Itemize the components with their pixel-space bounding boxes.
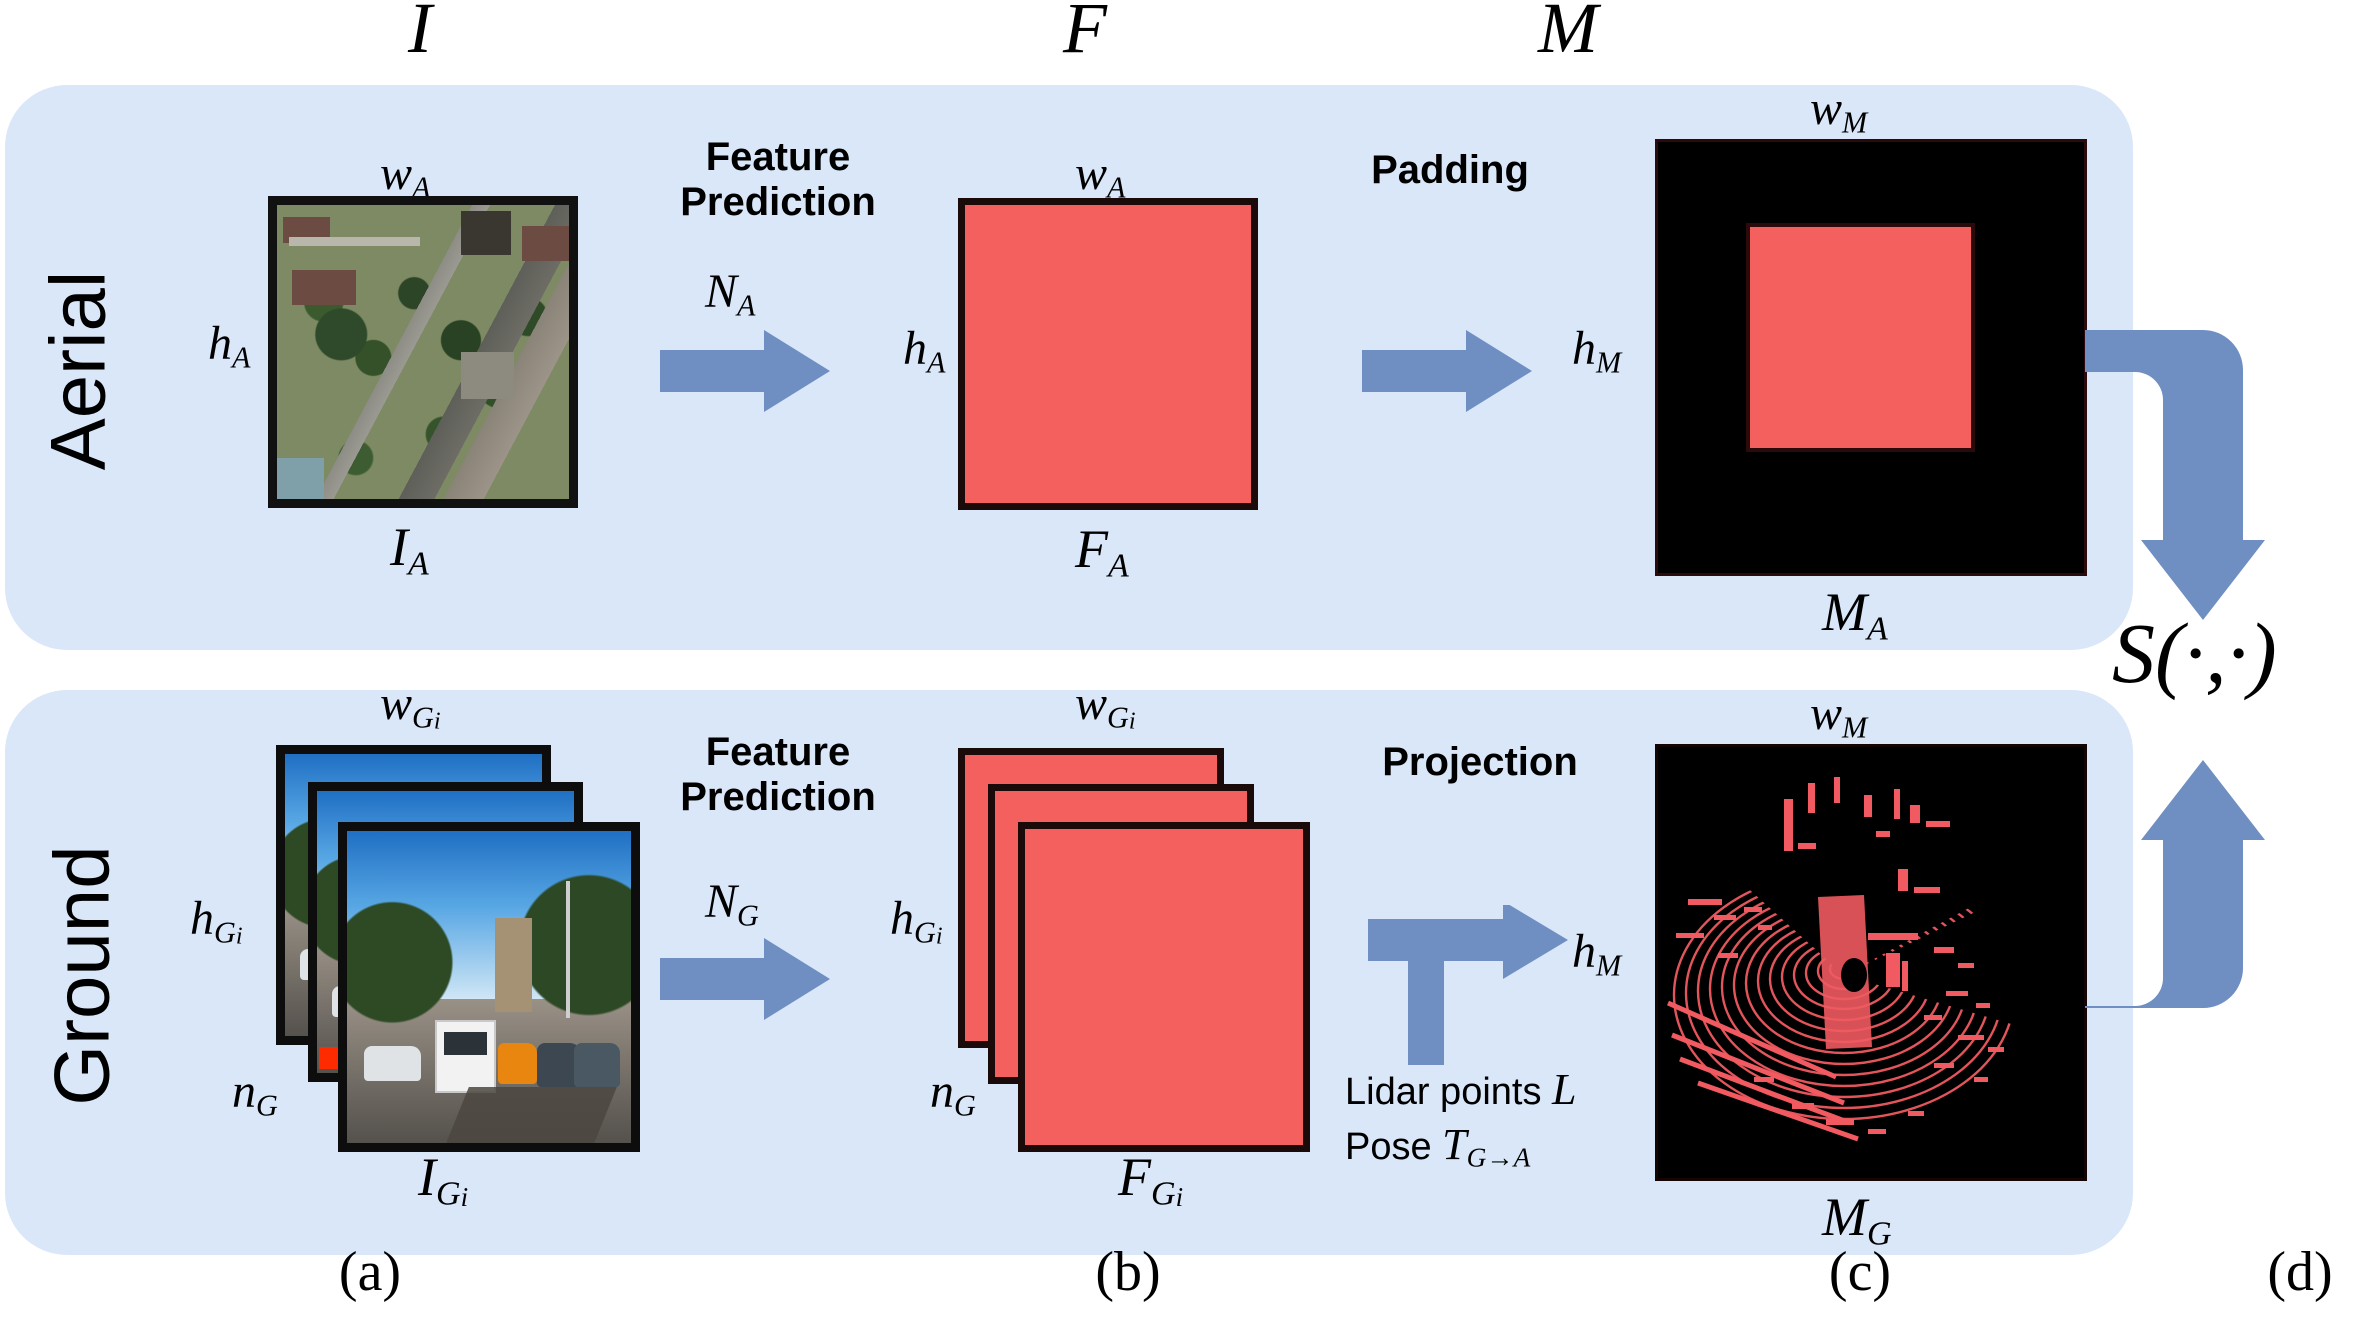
lidar-points-line: Lidar points L bbox=[1345, 1062, 1577, 1117]
aerial-padded-mask bbox=[1655, 139, 2087, 576]
aerial-padding-arrow bbox=[1362, 330, 1532, 412]
aerial-water bbox=[277, 458, 324, 499]
aerial-building bbox=[461, 352, 514, 399]
lidar-point-cloud bbox=[1658, 747, 2087, 1181]
aerial-padding-label: Padding bbox=[1325, 148, 1575, 193]
tree-right bbox=[517, 856, 640, 1018]
aerial-building bbox=[461, 211, 511, 255]
ground-projection-arrow bbox=[1368, 905, 1568, 1065]
camera-shadow bbox=[441, 1087, 616, 1152]
aerial-image-width-label: wA bbox=[380, 150, 430, 203]
row-label-aerial: Aerial bbox=[33, 241, 124, 501]
aerial-mask-width-label: wM bbox=[1810, 85, 1867, 138]
ground-to-score-arrow bbox=[2085, 760, 2265, 1050]
ground-feature-prediction-arrow bbox=[660, 938, 830, 1020]
pose-line: Pose TG→A bbox=[1345, 1117, 1577, 1175]
subfigure-caption-a: (a) bbox=[310, 1240, 430, 1304]
aerial-input-image bbox=[268, 196, 578, 508]
ground-feature-caption: FGi bbox=[1118, 1150, 1183, 1212]
ground-image-count-label: nG bbox=[232, 1068, 278, 1121]
column-header-M: M bbox=[1518, 0, 1618, 64]
white-van bbox=[435, 1020, 496, 1093]
aerial-image-height-label: hA bbox=[208, 320, 250, 373]
aerial-feature-caption: FA bbox=[1075, 522, 1129, 584]
aerial-to-score-arrow bbox=[2085, 330, 2265, 620]
parked-car bbox=[364, 1046, 421, 1080]
subfigure-caption-b: (b) bbox=[1068, 1240, 1188, 1304]
ground-feature-width-label: wGi bbox=[1075, 680, 1136, 734]
figure-canvas: I F M Aerial wA hA IA Feature Prediction… bbox=[0, 0, 2374, 1320]
ground-input-image-front bbox=[338, 822, 640, 1152]
subfigure-caption-c: (c) bbox=[1800, 1240, 1920, 1304]
ground-feature-count-label: nG bbox=[930, 1068, 976, 1121]
aerial-feature-height-label: hA bbox=[903, 325, 945, 378]
ground-projection-label: Projection bbox=[1340, 740, 1620, 785]
aerial-building bbox=[292, 270, 356, 305]
aerial-feature-width-label: wA bbox=[1075, 150, 1125, 203]
aerial-image-caption: IA bbox=[390, 520, 429, 582]
ground-image-width-label: wGi bbox=[380, 680, 441, 734]
orange-car bbox=[498, 1043, 538, 1084]
aerial-mask-valid-region bbox=[1746, 223, 1975, 452]
aerial-feature-prediction-label: Feature Prediction bbox=[638, 135, 918, 225]
column-header-I: I bbox=[370, 0, 470, 64]
ground-feature-map-front bbox=[1018, 822, 1310, 1152]
ground-feature-height-label: hGi bbox=[890, 895, 943, 949]
tree-left bbox=[338, 887, 461, 1024]
aerial-building bbox=[522, 226, 569, 261]
aerial-network-label: NA bbox=[705, 268, 755, 321]
ground-feature-prediction-label: Feature Prediction bbox=[638, 730, 918, 820]
ground-image-height-label: hGi bbox=[190, 895, 243, 949]
aerial-road-strip bbox=[289, 237, 420, 246]
subfigure-caption-d: (d) bbox=[2240, 1240, 2360, 1304]
similarity-score-label: S(·,·) bbox=[2112, 610, 2277, 696]
ground-lidar-mask bbox=[1655, 744, 2087, 1181]
aerial-mask-caption: MA bbox=[1822, 585, 1888, 647]
row-label-ground: Ground bbox=[37, 826, 128, 1126]
aerial-feature-prediction-arrow bbox=[660, 330, 830, 412]
aerial-mask-height-label: hM bbox=[1572, 325, 1621, 378]
ground-image-caption: IGi bbox=[418, 1150, 468, 1212]
aerial-feature-map bbox=[958, 198, 1258, 510]
ground-network-label: NG bbox=[705, 878, 759, 931]
column-header-F: F bbox=[1035, 0, 1135, 64]
building bbox=[495, 918, 532, 1012]
dark-car bbox=[574, 1043, 619, 1087]
street-pole bbox=[566, 881, 570, 1018]
ground-mask-width-label: wM bbox=[1810, 690, 1867, 743]
ground-mask-height-label: hM bbox=[1572, 928, 1621, 981]
projection-inputs-text: Lidar points L Pose TG→A bbox=[1345, 1062, 1577, 1175]
